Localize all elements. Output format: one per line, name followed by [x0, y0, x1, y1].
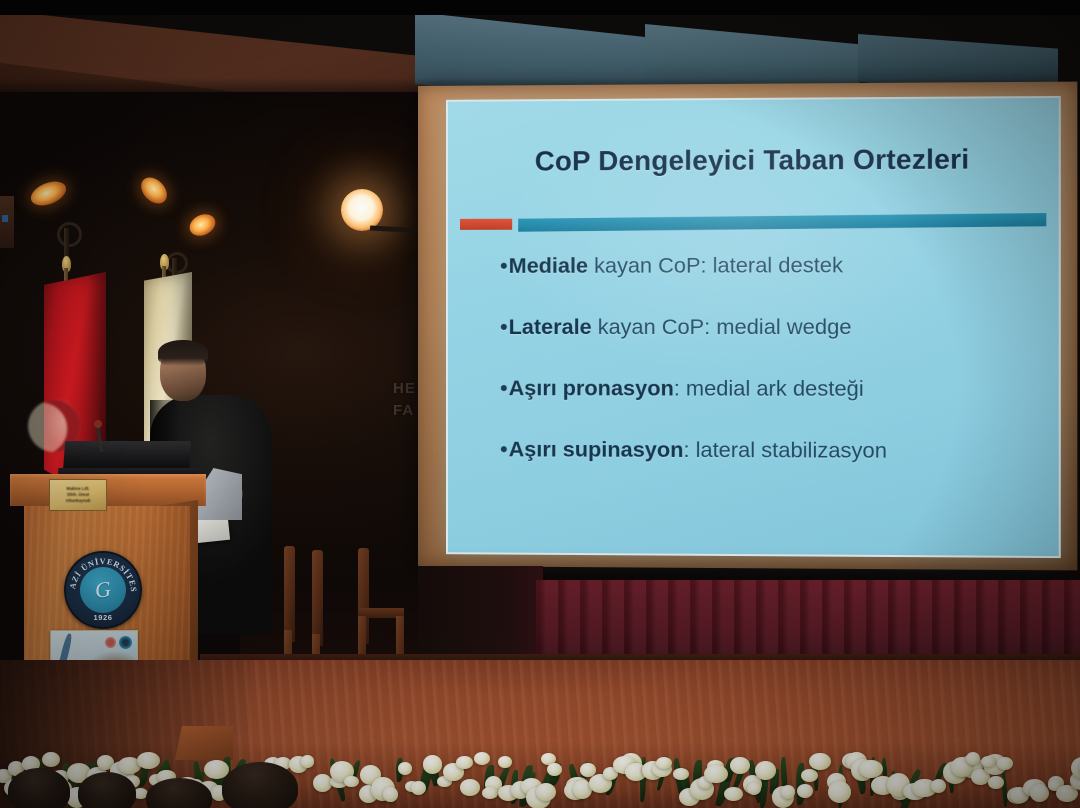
- nameplate-line-3: Altunkaynak: [66, 498, 91, 504]
- projection-screen-frame: CoP Dengeleyici Taban Ortezleri •Mediale…: [418, 82, 1077, 571]
- flower-leaf: [1000, 771, 1009, 807]
- flower: [344, 776, 358, 787]
- bullet-marker-3: •: [500, 376, 508, 400]
- slide-bullet-item-3: •Aşırı pronasyon: medial ark desteği: [500, 376, 1050, 402]
- flower: [755, 761, 775, 780]
- bullet-marker-1: •: [500, 254, 508, 278]
- slide-divider-accent-red: [460, 219, 512, 230]
- light-mount-ring-2: [166, 252, 188, 274]
- audience-head-1: [8, 768, 70, 808]
- flower: [460, 779, 480, 795]
- flower: [931, 779, 946, 793]
- flower: [809, 753, 831, 771]
- flower: [498, 756, 512, 768]
- slide-bullet-list: •Mediale kayan CoP: lateral destek •Late…: [500, 253, 1050, 501]
- indicator-light: [2, 215, 8, 222]
- flower: [981, 756, 996, 767]
- flower: [137, 752, 160, 769]
- flower: [656, 757, 672, 769]
- university-seal: GAZİ ÜNİVERSİTESİ G 1926: [64, 551, 142, 629]
- flower: [988, 776, 1003, 788]
- flower: [398, 762, 412, 775]
- bullet-rest-3: : medial ark desteği: [674, 376, 864, 401]
- stage-spotlight: [341, 189, 383, 231]
- flower: [747, 782, 761, 795]
- podium-top-ledge: [10, 474, 206, 506]
- university-seal-inner-disc: G: [80, 567, 126, 613]
- flower: [730, 757, 750, 774]
- poster-logo-secondary: [105, 637, 116, 648]
- bullet-bold-1: Mediale: [509, 254, 588, 278]
- flower: [482, 787, 498, 799]
- flower: [42, 752, 60, 767]
- flower: [423, 755, 442, 773]
- audience-head-2: [78, 772, 136, 808]
- flower: [474, 752, 490, 765]
- flower: [1030, 784, 1049, 802]
- flower: [456, 756, 473, 769]
- bullet-marker-4: •: [500, 437, 508, 461]
- bullet-bold-3: Aşırı pronasyon: [509, 376, 674, 400]
- light-mount-ring-1: [57, 222, 82, 247]
- flower: [301, 755, 315, 767]
- flower: [828, 781, 851, 803]
- slide-divider-bar-teal: [518, 213, 1046, 232]
- university-seal-monogram: G: [94, 576, 113, 604]
- flower: [997, 757, 1013, 770]
- wall-signage-line-1: HE: [393, 378, 416, 400]
- university-seal-year: 1926: [66, 613, 140, 622]
- chair-back-1: [284, 546, 295, 642]
- slide-bullet-item-4: •Aşırı supinasyon: lateral stabilizasyon: [500, 437, 1050, 464]
- flower: [704, 765, 727, 783]
- bullet-rest-1: kayan CoP: lateral destek: [588, 253, 843, 278]
- wall-fixture: [0, 196, 14, 248]
- slide-title: CoP Dengeleyici Taban Ortezleri: [448, 143, 1059, 178]
- flower: [536, 783, 556, 801]
- flower: [411, 781, 425, 795]
- flower: [797, 784, 813, 798]
- poster-logo-primary: [119, 636, 132, 649]
- audience-head-4: [222, 762, 298, 808]
- flower: [966, 752, 980, 765]
- chair-back-2: [312, 550, 323, 646]
- bullet-marker-2: •: [500, 315, 508, 339]
- flower: [781, 785, 795, 799]
- wall-signage: HE FA: [393, 378, 416, 422]
- slide-divider: [460, 215, 1046, 230]
- flower: [313, 774, 332, 793]
- bullet-bold-2: Laterale: [509, 315, 592, 339]
- podium-nameplate: Makine Ldt. Sthh. Ümut Altunkaynak: [49, 479, 107, 511]
- conference-photo-scene: HE FA CoP Dengeleyici Taban Ortezleri: [0, 0, 1080, 808]
- speaker-hair: [158, 340, 208, 366]
- flower: [724, 787, 743, 801]
- slide-bullet-item-2: •Laterale kayan CoP: medial wedge: [500, 315, 1050, 340]
- podium-microphone-head: [94, 420, 102, 428]
- flower: [383, 787, 397, 801]
- photo-top-border: [0, 0, 1080, 15]
- wall-signage-line-2: FA: [393, 400, 416, 422]
- slide-bullet-item-1: •Mediale kayan CoP: lateral destek: [500, 253, 1050, 279]
- presentation-slide: CoP Dengeleyici Taban Ortezleri •Mediale…: [446, 96, 1061, 558]
- bullet-bold-4: Aşırı supinasyon: [509, 437, 684, 462]
- bullet-rest-4: : lateral stabilizasyon: [684, 438, 888, 463]
- bullet-rest-2: kayan CoP: medial wedge: [592, 315, 852, 339]
